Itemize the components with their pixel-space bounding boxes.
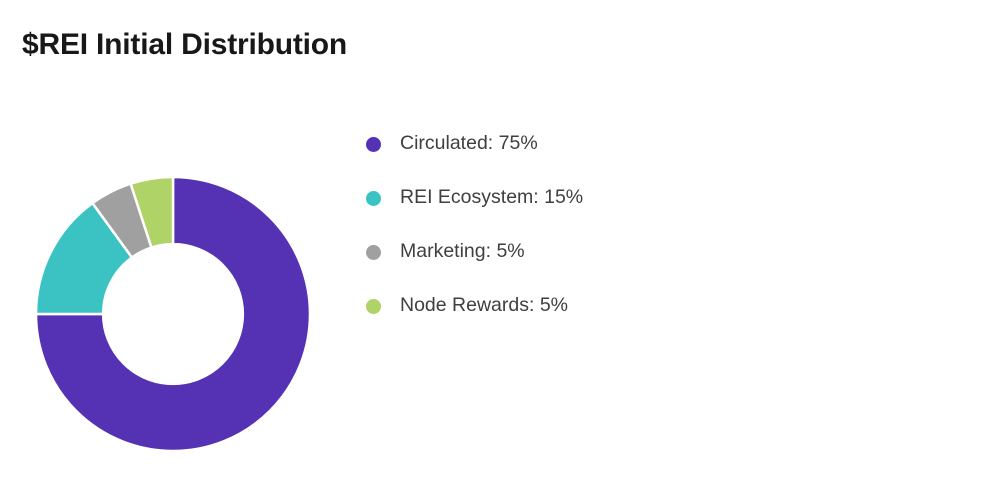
legend-item-rei-ecosystem[interactable]: REI Ecosystem: 15% [366, 171, 786, 225]
legend-item-label: Marketing: 5% [400, 242, 525, 262]
legend-item-node-rewards[interactable]: Node Rewards: 5% [366, 279, 786, 333]
chart-card: $REI Initial Distribution Circulated: 75… [0, 0, 1000, 479]
legend-item-label: Node Rewards: 5% [400, 296, 568, 316]
donut-slice-group [36, 177, 310, 451]
donut-chart [35, 176, 311, 452]
legend-swatch-icon [366, 299, 381, 314]
legend-item-label: REI Ecosystem: 15% [400, 188, 583, 208]
donut-chart-svg [35, 176, 311, 452]
legend-swatch-icon [366, 137, 381, 152]
chart-legend: Circulated: 75%REI Ecosystem: 15%Marketi… [366, 117, 786, 333]
legend-swatch-icon [366, 191, 381, 206]
legend-swatch-icon [366, 245, 381, 260]
page-title: $REI Initial Distribution [22, 28, 347, 62]
legend-item-circulated[interactable]: Circulated: 75% [366, 117, 786, 171]
legend-item-label: Circulated: 75% [400, 134, 538, 154]
legend-item-marketing[interactable]: Marketing: 5% [366, 225, 786, 279]
